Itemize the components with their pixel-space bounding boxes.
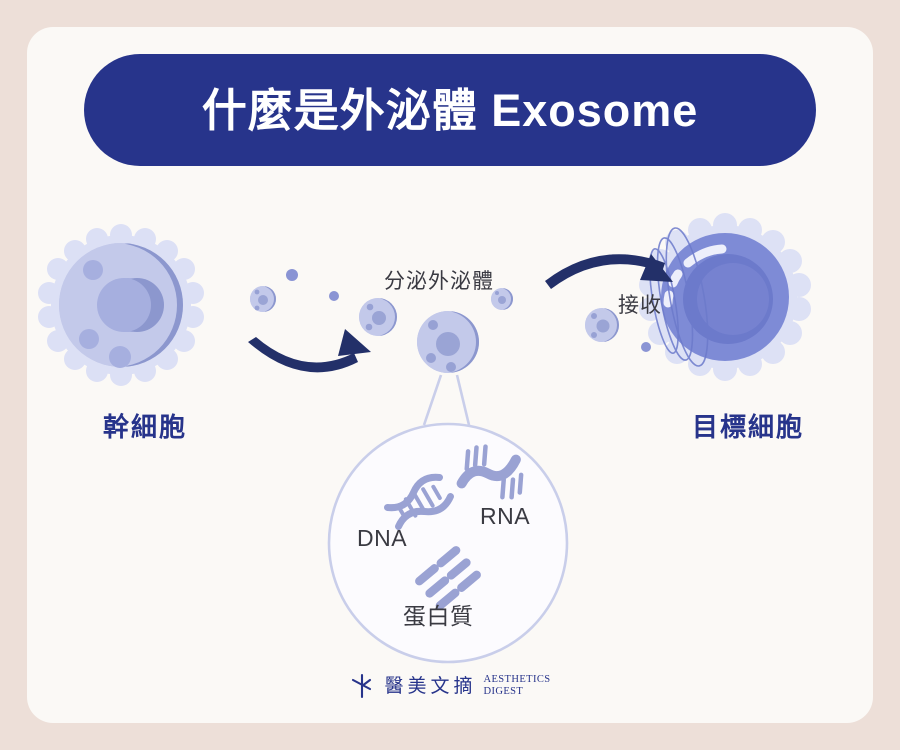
stem-cell-nucleus-shadow bbox=[97, 278, 164, 332]
magnifier-connector bbox=[424, 375, 469, 425]
brand-name-en: AESTHETICS DIGEST bbox=[484, 674, 551, 698]
receive-step-label: 接收 bbox=[618, 295, 662, 316]
exosome-main bbox=[414, 311, 488, 373]
secrete-step-label: 分泌外泌體 bbox=[384, 271, 494, 292]
stem-cell-icon bbox=[38, 224, 204, 386]
brand-en-line1: AESTHETICS bbox=[484, 674, 551, 686]
stem-cell-label: 幹細胞 bbox=[103, 414, 187, 440]
brand-en-line2: DIGEST bbox=[484, 686, 551, 698]
footer-brand: 醫美文摘 AESTHETICS DIGEST bbox=[27, 672, 873, 700]
content-card: 什麼是外泌體 Exosome bbox=[27, 27, 873, 723]
infographic-canvas: 什麼是外泌體 Exosome bbox=[0, 0, 900, 750]
rna-label: RNA bbox=[480, 505, 530, 528]
stem-cell-dot bbox=[83, 260, 103, 280]
stem-cell-dot bbox=[109, 346, 131, 368]
stem-cell-dot bbox=[79, 329, 99, 349]
target-cell-label: 目標細胞 bbox=[692, 414, 804, 440]
exosome-small bbox=[248, 286, 281, 312]
needle-mark-icon bbox=[349, 672, 375, 700]
dna-label: DNA bbox=[357, 527, 407, 550]
exosome-small bbox=[357, 298, 403, 336]
brand-name-cn: 醫美文摘 bbox=[384, 677, 476, 696]
secrete-arrow-icon bbox=[248, 329, 371, 372]
protein-label: 蛋白質 bbox=[403, 605, 474, 628]
target-cell-icon bbox=[639, 213, 811, 381]
